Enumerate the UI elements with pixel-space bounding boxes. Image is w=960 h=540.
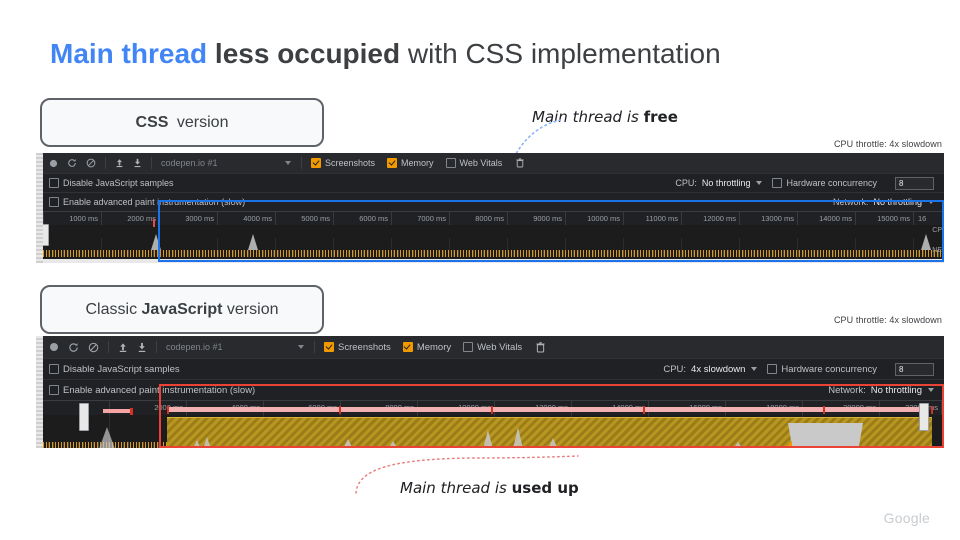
cpu-throttle-control-js[interactable]: CPU: 4x slowdown [663, 364, 757, 375]
track-label-cpu: CP [932, 227, 942, 234]
cpu-label: CPU: [663, 364, 686, 375]
ruler-tick: 1000 ms [69, 214, 98, 223]
timeline-overview-js[interactable]: 2000 ms 4000 ms 6000 ms 8000 ms 10000 ms… [43, 401, 944, 448]
download-icon[interactable] [137, 342, 147, 353]
selection-tick [931, 406, 933, 414]
cpu-throttle-control-css[interactable]: CPU: No throttling [675, 178, 762, 188]
checkbox-label-web-vitals: Web Vitals [460, 158, 503, 168]
devtools-toolbar-network-row-js[interactable]: Enable advanced paint instrumentation (s… [43, 380, 944, 401]
toolbar-divider-2 [151, 157, 152, 169]
devtools-panel-css[interactable]: codepen.io #1 Screenshots Memory Web Vit… [36, 153, 944, 263]
cpu-throttle-note-css: CPU throttle: 4x slowdown [834, 139, 942, 149]
annotation-main-thread-free: Main thread is free [532, 108, 678, 126]
trash-icon[interactable] [536, 342, 545, 353]
checkbox-box-hardware-concurrency[interactable] [767, 364, 777, 374]
checkbox-label-advanced-paint: Enable advanced paint instrumentation (s… [63, 197, 245, 207]
cpu-activity-track-css [43, 250, 944, 257]
checkbox-label-hardware-concurrency: Hardware concurrency [781, 364, 877, 375]
panel-left-scroll-gutter [36, 336, 43, 448]
checkbox-screenshots[interactable]: Screenshots [311, 158, 375, 168]
record-icon[interactable] [49, 342, 59, 352]
hardware-concurrency-input[interactable]: 8 [895, 177, 934, 190]
checkbox-box-web-vitals[interactable] [463, 342, 473, 352]
recording-target-select[interactable]: codepen.io #1 [166, 342, 294, 352]
title-part-regular: with CSS implementation [408, 38, 721, 69]
clear-icon[interactable] [86, 158, 96, 168]
pre-selection-bar [103, 409, 131, 413]
cpu-spike [483, 430, 493, 448]
cpu-spike [193, 440, 201, 448]
devtools-toolbar-cpu-row-js[interactable]: Disable JavaScript samples CPU: 4x slowd… [43, 359, 944, 380]
checkbox-label-memory: Memory [401, 158, 434, 168]
selection-tick [643, 406, 645, 414]
selection-tick [823, 406, 825, 414]
download-icon[interactable] [133, 158, 142, 168]
ruler-tick: 14000 ms [819, 214, 852, 223]
annotation-free-plain: Main thread is [532, 108, 639, 126]
chevron-down-icon[interactable] [756, 181, 762, 185]
devtools-toolbar-primary-css[interactable]: codepen.io #1 Screenshots Memory Web Vit… [43, 153, 944, 174]
annotation-used-bold: used up [512, 479, 579, 497]
cpu-spike [151, 234, 161, 250]
ruler-tick: 2000 ms [127, 214, 156, 223]
record-icon[interactable] [49, 159, 58, 168]
ruler-tick: 3000 ms [185, 214, 214, 223]
reload-icon[interactable] [67, 158, 77, 168]
cpu-spike [548, 438, 558, 448]
checkbox-box-advanced-paint[interactable] [49, 385, 59, 395]
toolbar-divider-3 [314, 341, 315, 353]
upload-icon[interactable] [118, 342, 128, 353]
chevron-down-icon[interactable] [751, 367, 757, 371]
chevron-down-icon[interactable] [285, 161, 291, 165]
cpu-spike [343, 439, 353, 448]
cpu-value[interactable]: No throttling [702, 178, 751, 188]
toolbar-divider-2 [156, 341, 157, 353]
ruler-tick: 7000 ms [417, 214, 446, 223]
annotation-main-thread-used-up: Main thread is used up [400, 479, 579, 497]
checkbox-hardware-concurrency[interactable]: Hardware concurrency [772, 178, 877, 188]
checkbox-memory[interactable]: Memory [403, 342, 451, 353]
network-label: Network: [833, 197, 869, 207]
checkbox-web-vitals[interactable]: Web Vitals [446, 158, 503, 168]
cpu-value[interactable]: 4x slowdown [691, 364, 745, 375]
title-part-blue: Main thread [50, 38, 207, 69]
checkbox-label-advanced-paint: Enable advanced paint instrumentation (s… [63, 385, 255, 396]
checkbox-box-advanced-paint[interactable] [49, 197, 59, 207]
network-label: Network: [828, 385, 865, 396]
cpu-spike [248, 234, 258, 250]
chevron-down-icon[interactable] [928, 200, 934, 204]
trash-icon[interactable] [516, 158, 524, 168]
cpu-spike [99, 427, 115, 448]
toolbar-divider-3 [301, 157, 302, 169]
ruler-tick: 9000 ms [533, 214, 562, 223]
upload-icon[interactable] [115, 158, 124, 168]
chevron-down-icon[interactable] [928, 388, 934, 392]
panel-left-scroll-gutter [36, 153, 43, 263]
checkbox-box-screenshots[interactable] [324, 342, 334, 352]
ruler-tick: 11000 ms [646, 214, 678, 223]
checkbox-box-disable-js-samples[interactable] [49, 364, 59, 374]
pill-js-bold: JavaScript [142, 301, 223, 318]
timeline-marker [153, 219, 155, 227]
checkbox-box-memory[interactable] [387, 158, 397, 168]
pill-js-rest: version [227, 301, 279, 318]
checkbox-web-vitals[interactable]: Web Vitals [463, 342, 522, 353]
checkbox-box-hardware-concurrency[interactable] [772, 178, 782, 188]
slide: Main thread less occupied with CSS imple… [0, 0, 960, 540]
ruler-tick: 13000 ms [761, 214, 794, 223]
devtools-toolbar-primary-js[interactable]: codepen.io #1 Screenshots Memory Web Vit… [43, 336, 944, 359]
label-pill-js-version: Classic JavaScript version [40, 285, 324, 334]
toolbar-divider-1 [105, 157, 106, 169]
devtools-panel-js[interactable]: codepen.io #1 Screenshots Memory Web Vit… [36, 336, 944, 448]
checkbox-disable-js-samples[interactable]: Disable JavaScript samples [49, 178, 174, 188]
checkbox-label-disable-js-samples: Disable JavaScript samples [63, 178, 174, 188]
timeline-overview-css[interactable]: 1000 ms 2000 ms 3000 ms 4000 ms 5000 ms … [43, 212, 944, 263]
pill-css-rest: version [177, 114, 229, 131]
reload-icon[interactable] [68, 342, 79, 353]
checkbox-box-web-vitals[interactable] [446, 158, 456, 168]
selection-tick [339, 406, 341, 414]
timeline-tracks-js[interactable] [43, 415, 944, 448]
checkbox-label-web-vitals: Web Vitals [477, 342, 522, 353]
cpu-label: CPU: [675, 178, 697, 188]
toolbar-divider-1 [108, 341, 109, 353]
selection-tick [167, 406, 169, 414]
checkbox-memory[interactable]: Memory [387, 158, 434, 168]
checkbox-disable-js-samples[interactable]: Disable JavaScript samples [49, 364, 180, 375]
pill-css-bold: CSS [136, 114, 169, 131]
title-part-bold: less occupied [215, 38, 400, 69]
checkbox-advanced-paint-instrumentation[interactable]: Enable advanced paint instrumentation (s… [49, 197, 245, 207]
cpu-spike [733, 442, 743, 448]
selection-tick [491, 406, 493, 414]
cpu-spike [921, 234, 931, 250]
long-task-block [788, 423, 863, 448]
label-pill-css-version: CSS version [40, 98, 324, 147]
checkbox-label-screenshots: Screenshots [325, 158, 375, 168]
ruler-tick: 5000 ms [301, 214, 330, 223]
timeline-ruler-js[interactable]: 2000 ms 4000 ms 6000 ms 8000 ms 10000 ms… [43, 401, 944, 415]
ruler-tick: 10000 ms [587, 214, 620, 223]
cpu-spike [513, 427, 523, 448]
network-value[interactable]: No throttling [873, 197, 922, 207]
ruler-tick: 4000 ms [243, 214, 272, 223]
clear-icon[interactable] [88, 342, 99, 353]
timeline-ruler-css[interactable]: 1000 ms 2000 ms 3000 ms 4000 ms 5000 ms … [43, 212, 944, 225]
google-wordmark: Google [884, 510, 930, 526]
devtools-toolbar-network-row-css[interactable]: Enable advanced paint instrumentation (s… [43, 193, 944, 212]
checkbox-label-disable-js-samples: Disable JavaScript samples [63, 364, 180, 375]
recording-target-select[interactable]: codepen.io #1 [161, 158, 281, 168]
checkbox-box-memory[interactable] [403, 342, 413, 352]
page-title: Main thread less occupied with CSS imple… [50, 36, 721, 72]
checkbox-hardware-concurrency[interactable]: Hardware concurrency [767, 364, 877, 375]
overview-window-handle-left[interactable] [79, 403, 89, 431]
network-throttle-control-js[interactable]: Network: No throttling [828, 385, 934, 396]
hardware-concurrency-input[interactable]: 8 [895, 363, 934, 376]
pill-js-prefix: Classic [86, 301, 138, 318]
overview-resize-handle-left[interactable] [43, 224, 49, 246]
checkbox-box-disable-js-samples[interactable] [49, 178, 59, 188]
ruler-tick: 6000 ms [359, 214, 388, 223]
chevron-down-icon[interactable] [298, 345, 304, 349]
devtools-toolbar-cpu-row-css[interactable]: Disable JavaScript samples CPU: No throt… [43, 174, 944, 193]
network-value[interactable]: No throttling [871, 385, 922, 396]
cpu-spike [203, 437, 211, 448]
overview-window-handle-right[interactable] [919, 403, 929, 431]
checkbox-label-hardware-concurrency: Hardware concurrency [786, 178, 877, 188]
timeline-tracks-css[interactable]: CP NE [43, 225, 944, 263]
selection-time-bar[interactable] [167, 407, 926, 412]
cpu-spike [388, 441, 398, 448]
checkbox-label-memory: Memory [417, 342, 451, 353]
checkbox-advanced-paint-instrumentation[interactable]: Enable advanced paint instrumentation (s… [49, 385, 255, 396]
ruler-tick: 15000 ms [877, 214, 910, 223]
ruler-tick: 12000 ms [703, 214, 736, 223]
annotation-used-plain: Main thread is [400, 479, 507, 497]
ruler-tick: 16 [918, 214, 926, 223]
timeline-bottom-strip-css [43, 259, 944, 263]
annotation-free-bold: free [644, 108, 678, 126]
checkbox-screenshots[interactable]: Screenshots [324, 342, 391, 353]
checkbox-box-screenshots[interactable] [311, 158, 321, 168]
cpu-throttle-note-js: CPU throttle: 4x slowdown [834, 315, 942, 325]
ruler-tick: 8000 ms [475, 214, 504, 223]
checkbox-label-screenshots: Screenshots [338, 342, 391, 353]
marker-red [130, 408, 133, 415]
network-throttle-control-css[interactable]: Network: No throttling [833, 197, 934, 207]
track-label-net: NE [932, 247, 942, 254]
